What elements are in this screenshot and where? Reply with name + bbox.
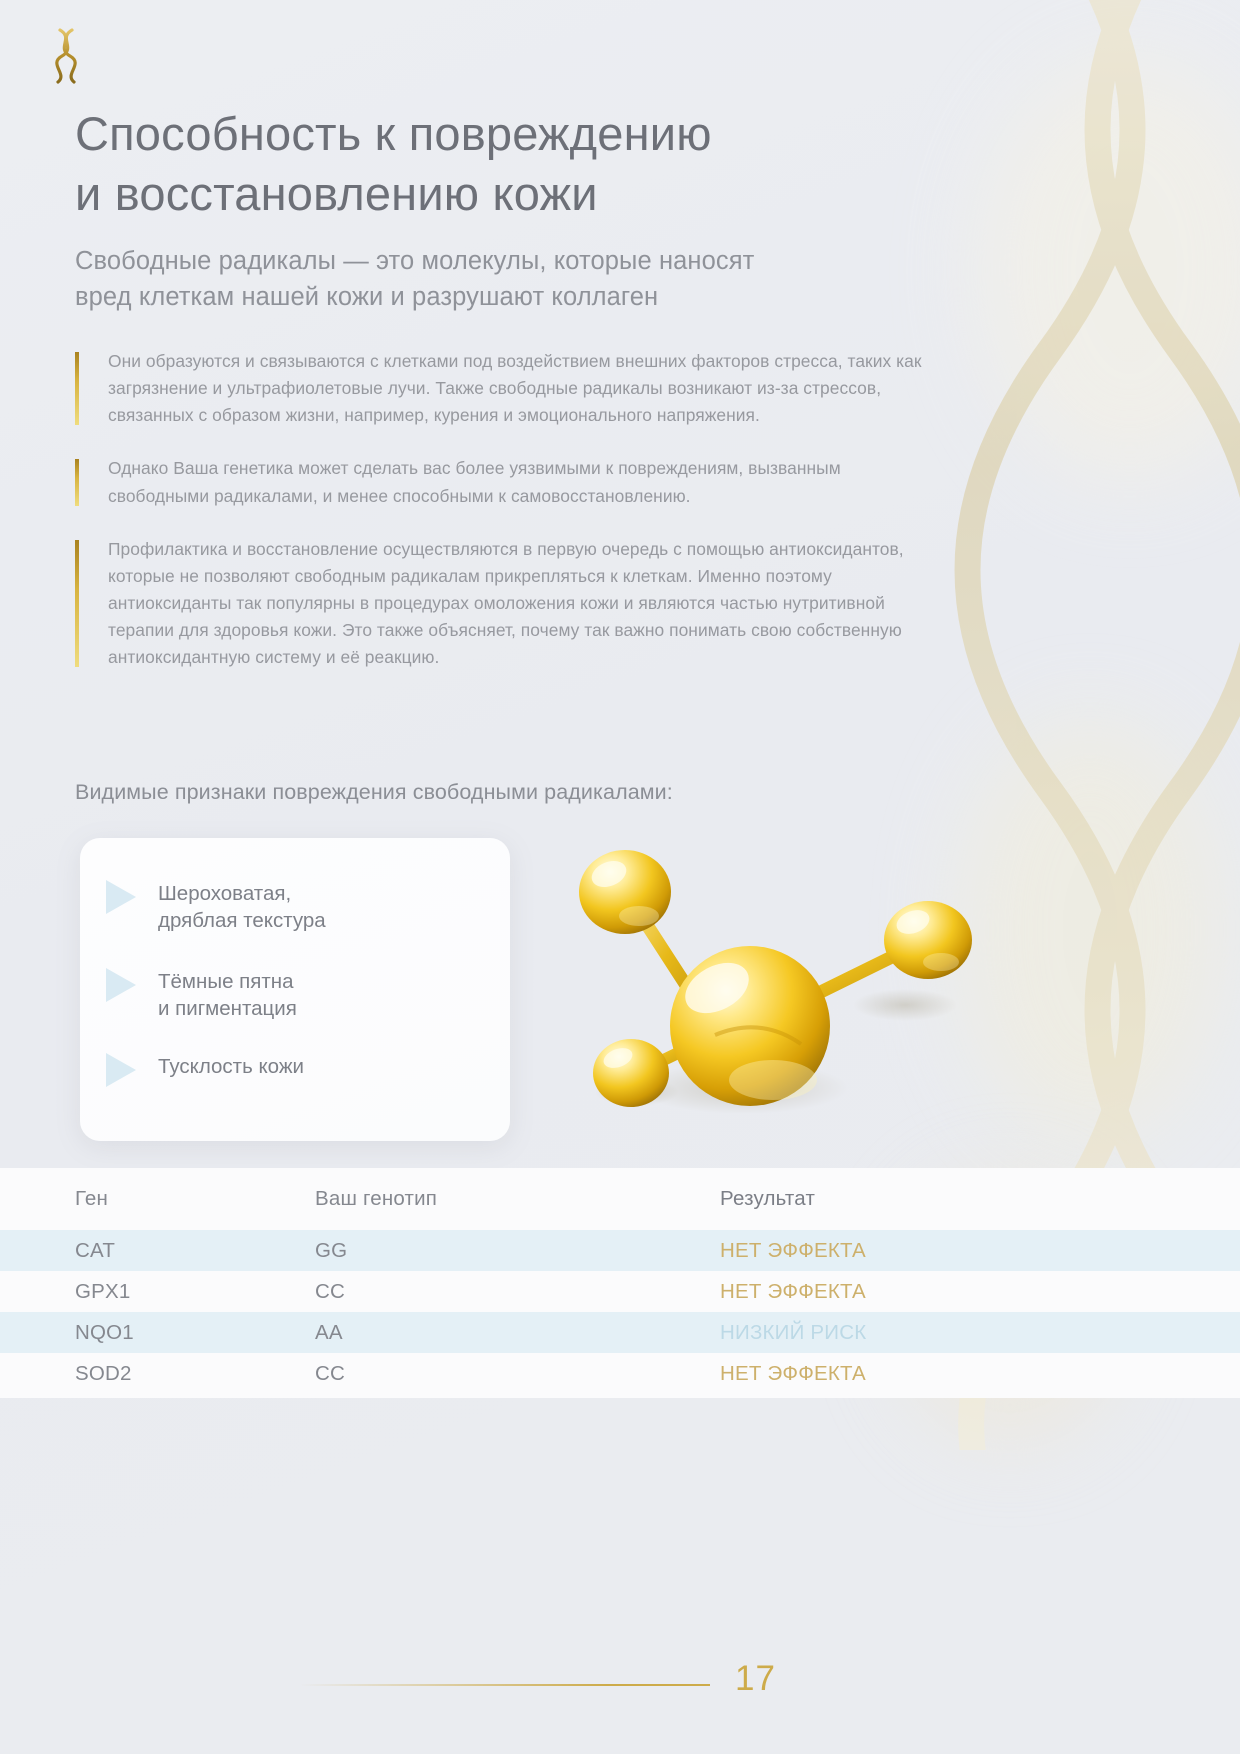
cell-gene: SOD2 bbox=[0, 1362, 315, 1386]
page-subtitle: Свободные радикалы — это молекулы, котор… bbox=[75, 244, 955, 315]
cell-gene: NQO1 bbox=[0, 1321, 315, 1345]
cell-result: НЕТ ЭФФЕКТА bbox=[720, 1362, 1240, 1386]
gold-molecule-illustration bbox=[565, 830, 1015, 1150]
list-item: Шероховатая, дряблая текстура bbox=[106, 880, 326, 935]
info-paragraph: Однако Ваша генетика может сделать вас б… bbox=[75, 455, 945, 509]
gold-accent-bar bbox=[75, 459, 79, 505]
info-paragraph-text: Они образуются и связываются с клетками … bbox=[108, 348, 945, 429]
table-header-result: Результат bbox=[720, 1187, 1240, 1211]
gold-accent-bar bbox=[75, 352, 79, 425]
table-row: GPX1 CC НЕТ ЭФФЕКТА bbox=[0, 1271, 1240, 1312]
page-subtitle-line-2: вред клеткам нашей кожи и разрушают колл… bbox=[75, 283, 658, 311]
cell-genotype: GG bbox=[315, 1239, 720, 1263]
list-item: Тёмные пятна и пигментация bbox=[106, 968, 297, 1023]
cell-gene: CAT bbox=[0, 1239, 315, 1263]
cell-result: НЕТ ЭФФЕКТА bbox=[720, 1239, 1240, 1263]
page-footer: 17 bbox=[0, 1609, 1240, 1754]
molecule-atom-small-bottom bbox=[593, 1039, 669, 1107]
info-paragraph: Профилактика и восстановление осуществля… bbox=[75, 536, 945, 672]
list-item-label: Тусклость кожи bbox=[158, 1053, 304, 1080]
visible-signs-heading: Видимые признаки повреждения свободными … bbox=[75, 780, 975, 805]
triangle-right-icon bbox=[106, 968, 136, 1002]
table-row: NQO1 AA НИЗКИЙ РИСК bbox=[0, 1312, 1240, 1353]
page-title-line-1: Способность к повреждению bbox=[75, 107, 712, 160]
visible-signs-card: Шероховатая, дряблая текстура Тёмные пят… bbox=[80, 838, 510, 1141]
cell-genotype: AA bbox=[315, 1321, 720, 1345]
cell-gene: GPX1 bbox=[0, 1280, 315, 1304]
page-root: Способность к повреждению и восстановлен… bbox=[0, 0, 1240, 1754]
molecule-atom-small-right bbox=[884, 901, 972, 979]
info-paragraph: Они образуются и связываются с клетками … bbox=[75, 348, 945, 429]
table-header-row: Ген Ваш генотип Результат bbox=[0, 1168, 1240, 1230]
cell-result: НЕТ ЭФФЕКТА bbox=[720, 1280, 1240, 1304]
table-row: CAT GG НЕТ ЭФФЕКТА bbox=[0, 1230, 1240, 1271]
gold-accent-bar bbox=[75, 540, 79, 668]
molecule-atom-core bbox=[670, 946, 830, 1106]
triangle-right-icon bbox=[106, 880, 136, 914]
triangle-right-icon bbox=[106, 1053, 136, 1087]
genotype-results-table: Ген Ваш генотип Результат CAT GG НЕТ ЭФФ… bbox=[0, 1168, 1240, 1398]
list-item-label: Шероховатая, дряблая текстура bbox=[158, 880, 326, 935]
list-item-label: Тёмные пятна и пигментация bbox=[158, 968, 297, 1023]
footer-divider bbox=[300, 1684, 710, 1686]
page-number: 17 bbox=[735, 1659, 776, 1699]
info-paragraph-text: Профилактика и восстановление осуществля… bbox=[108, 536, 945, 672]
molecule-atom-small-top bbox=[579, 850, 671, 934]
table-header-gene: Ген bbox=[0, 1187, 315, 1211]
list-item: Тусклость кожи bbox=[106, 1053, 304, 1087]
info-paragraph-list: Они образуются и связываются с клетками … bbox=[75, 348, 945, 697]
table-header-genotype: Ваш генотип bbox=[315, 1187, 720, 1211]
cell-genotype: CC bbox=[315, 1280, 720, 1304]
cell-result: НИЗКИЙ РИСК bbox=[720, 1321, 1240, 1345]
page-title-line-2: и восстановлению кожи bbox=[75, 167, 598, 220]
cell-genotype: CC bbox=[315, 1362, 720, 1386]
page-title: Способность к повреждению и восстановлен… bbox=[75, 104, 955, 224]
dna-helix-logo bbox=[46, 26, 90, 86]
page-subtitle-line-1: Свободные радикалы — это молекулы, котор… bbox=[75, 247, 754, 275]
table-row: SOD2 CC НЕТ ЭФФЕКТА bbox=[0, 1353, 1240, 1394]
info-paragraph-text: Однако Ваша генетика может сделать вас б… bbox=[108, 455, 945, 509]
